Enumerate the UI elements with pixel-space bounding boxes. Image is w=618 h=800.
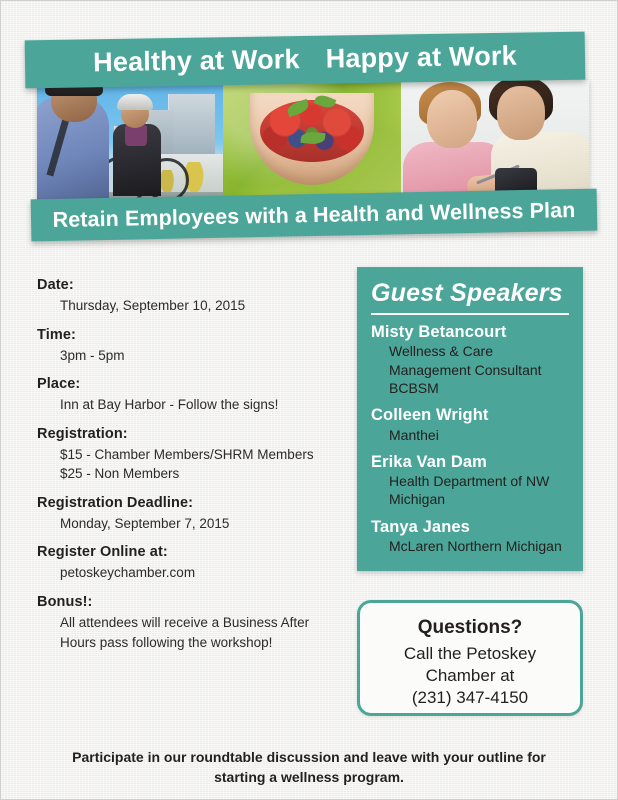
speaker-organization: McLaren Northern Michigan <box>389 537 569 555</box>
speaker-name: Misty Betancourt <box>371 323 569 342</box>
detail-group-bonus: Bonus!: All attendees will receive a Bus… <box>37 594 347 652</box>
speaker-entry: Colleen Wright Manthei <box>371 406 569 444</box>
speaker-organization: Health Department of NW Michigan <box>389 472 569 508</box>
guest-speakers-panel: Guest Speakers Misty Betancourt Wellness… <box>357 267 583 571</box>
guest-speakers-title: Guest Speakers <box>371 279 569 313</box>
speaker-entry: Tanya Janes McLaren Northern Michigan <box>371 518 569 556</box>
patient-head-shape <box>427 90 477 148</box>
detail-label: Registration Deadline: <box>37 495 347 511</box>
detail-group-date: Date: Thursday, September 10, 2015 <box>37 277 347 316</box>
flyer-page: Healthy at Work Happy at Work Retain Emp… <box>0 0 618 800</box>
event-details-list: Date: Thursday, September 10, 2015 Time:… <box>37 277 347 663</box>
detail-group-place: Place: Inn at Bay Harbor - Follow the si… <box>37 376 347 415</box>
speaker-name: Tanya Janes <box>371 518 569 537</box>
detail-value: $15 - Chamber Members/SHRM Members <box>60 445 347 465</box>
detail-group-register-online: Register Online at: petoskeychamber.com <box>37 544 347 583</box>
detail-label: Date: <box>37 277 347 293</box>
detail-group-registration-deadline: Registration Deadline: Monday, September… <box>37 495 347 534</box>
speaker-entry: Misty Betancourt Wellness & Care Managem… <box>371 323 569 397</box>
detail-value: Thursday, September 10, 2015 <box>60 296 347 316</box>
cyclists-commuting-photo <box>37 80 223 208</box>
detail-value: Monday, September 7, 2015 <box>60 514 347 534</box>
detail-label: Bonus!: <box>37 594 347 610</box>
detail-label: Register Online at: <box>37 544 347 560</box>
bike-helmet-shape <box>117 94 153 110</box>
speaker-name: Colleen Wright <box>371 406 569 425</box>
hands-holding-berries-photo <box>223 80 401 208</box>
detail-label: Time: <box>37 327 347 343</box>
photo-strip <box>37 80 589 208</box>
detail-group-registration: Registration: $15 - Chamber Members/SHRM… <box>37 426 347 484</box>
detail-label: Place: <box>37 376 347 392</box>
detail-value: All attendees will receive a Business Af… <box>60 613 347 652</box>
footer-note: Participate in our roundtable discussion… <box>1 747 617 788</box>
speaker-organization: Wellness & Care Management Consultant BC… <box>389 342 569 397</box>
questions-box: Questions? Call the Petoskey Chamber at … <box>357 600 583 716</box>
registration-url[interactable]: petoskeychamber.com <box>60 563 347 583</box>
divider <box>371 313 569 315</box>
header-banner-block: Healthy at Work Happy at Work Retain Emp… <box>25 34 597 244</box>
contact-phone-number[interactable]: (231) 347-4150 <box>360 687 580 709</box>
detail-label: Registration: <box>37 426 347 442</box>
speaker-name: Erika Van Dam <box>371 453 569 472</box>
speaker-entry: Erika Van Dam Health Department of NW Mi… <box>371 453 569 509</box>
headline-part-1: Healthy at Work <box>93 44 300 78</box>
detail-value: $25 - Non Members <box>60 464 347 484</box>
speaker-organization: Manthei <box>389 426 569 444</box>
headline-part-2: Happy at Work <box>325 40 517 74</box>
detail-group-time: Time: 3pm - 5pm <box>37 327 347 366</box>
questions-line-1: Call the Petoskey <box>360 643 580 665</box>
detail-value: 3pm - 5pm <box>60 346 347 366</box>
detail-value: Inn at Bay Harbor - Follow the signs! <box>60 395 347 415</box>
headline-ribbon-top: Healthy at Work Happy at Work <box>25 32 586 89</box>
nurse-head-shape <box>497 86 545 140</box>
questions-line-2: Chamber at <box>360 665 580 687</box>
subheadline-text: Retain Employees with a Health and Welln… <box>52 197 575 232</box>
questions-title: Questions? <box>360 617 580 639</box>
